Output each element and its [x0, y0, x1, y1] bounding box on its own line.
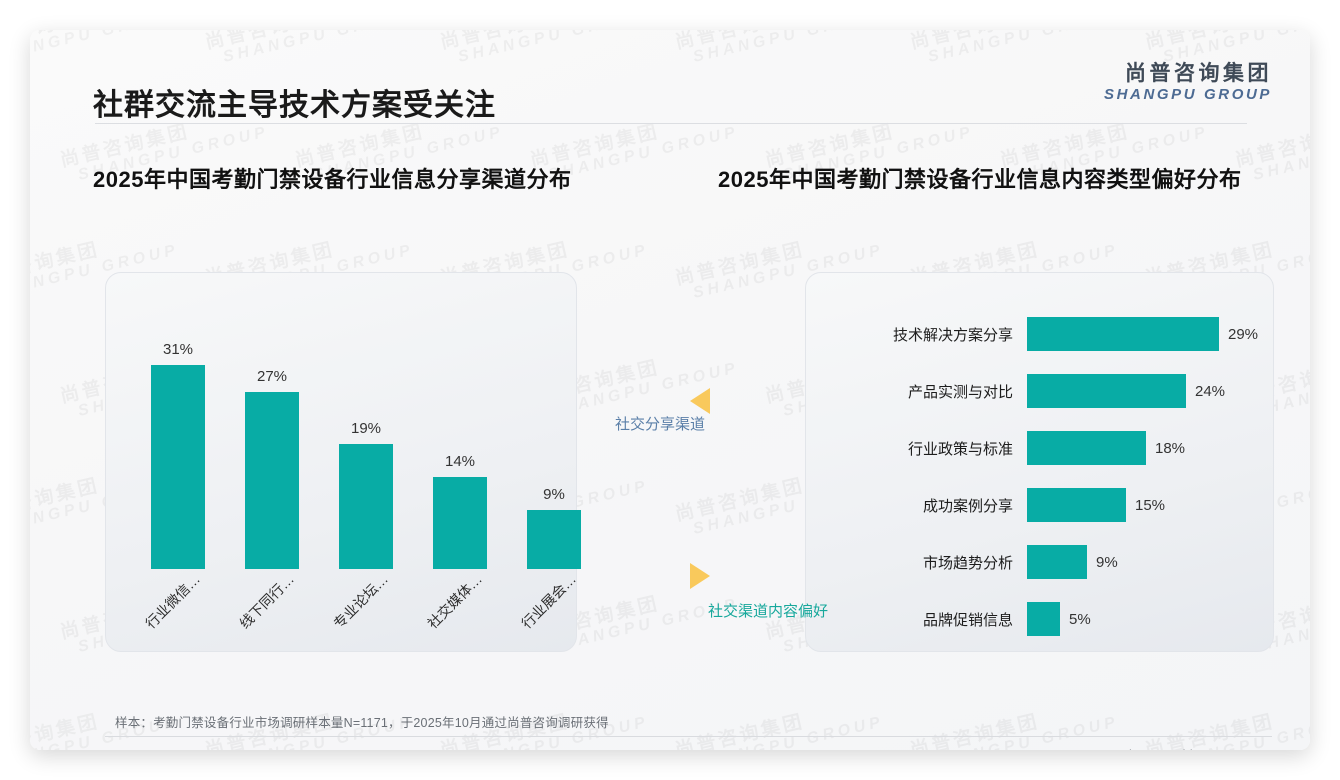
bar-row: 品牌促销信息5% [841, 602, 1091, 636]
bar-group: 27% [245, 368, 299, 569]
sample-footnote: 样本：考勤门禁设备行业市场调研样本量N=1171，于2025年10月通过尚普咨询… [115, 712, 609, 731]
bar-rect [433, 477, 487, 569]
watermark-text: 尚普咨询集团SHANGPU GROUP [674, 695, 886, 750]
bar-group: 31% [151, 341, 205, 569]
bar-rect [151, 365, 205, 569]
bar-category-label: 产品实测与对比 [841, 381, 1027, 402]
bar-group: 14% [433, 453, 487, 569]
bar-value-label: 24% [1195, 383, 1225, 400]
bar-rect [245, 392, 299, 569]
annotation-social-channel-label: 社交分享渠道 [615, 413, 705, 434]
bar-value-label: 9% [543, 486, 565, 503]
horizontal-bar-chart: 技术解决方案分享29%产品实测与对比24%行业政策与标准18%成功案例分享15%… [806, 273, 1273, 651]
bar-rect [339, 444, 393, 569]
chart-title-left: 2025年中国考勤门禁设备行业信息分享渠道分布 [93, 162, 571, 194]
bar-rect [527, 510, 581, 569]
bar-value-label: 31% [163, 341, 193, 358]
footer-divider [105, 736, 1272, 737]
bar-rect [1027, 431, 1146, 465]
triangle-right-icon [690, 563, 710, 589]
annotation-social-channel [690, 388, 710, 414]
bar-value-label: 14% [445, 453, 475, 470]
bar-row: 行业政策与标准18% [841, 431, 1185, 465]
bar-row: 技术解决方案分享29% [841, 317, 1258, 351]
chart-title-right: 2025年中国考勤门禁设备行业信息内容类型偏好分布 [718, 162, 1241, 194]
bar-rect [1027, 374, 1186, 408]
bar-category-label: 行业微信… [141, 569, 205, 633]
bar-group: 9% [527, 486, 581, 569]
bar-value-label: 15% [1135, 497, 1165, 514]
bar-value-label: 29% [1228, 326, 1258, 343]
slide: 尚普咨询集团SHANGPU GROUP尚普咨询集团SHANGPU GROUP尚普… [30, 30, 1310, 750]
bar-category-label: 专业论坛… [329, 569, 393, 633]
bar-group: 19% [339, 420, 393, 569]
bar-value-label: 19% [351, 420, 381, 437]
bar-category-label: 成功案例分享 [841, 495, 1027, 516]
page-title: 社群交流主导技术方案受关注 [93, 80, 496, 124]
bar-rect [1027, 317, 1219, 351]
chart-card-left: 31%行业微信…27%线下同行…19%专业论坛…14%社交媒体…9%行业展会… [105, 272, 577, 652]
watermark-text: 尚普咨询集团SHANGPU GROUP [1144, 695, 1310, 750]
brand-logo: 尚普咨询集团 SHANGPU GROUP [1104, 62, 1272, 104]
bar-row: 产品实测与对比24% [841, 374, 1225, 408]
vertical-bar-chart: 31%行业微信…27%线下同行…19%专业论坛…14%社交媒体…9%行业展会… [106, 273, 576, 651]
logo-english-text: SHANGPU GROUP [1104, 86, 1272, 104]
annotation-content-pref [690, 563, 710, 589]
chart-card-right: 技术解决方案分享29%产品实测与对比24%行业政策与标准18%成功案例分享15%… [805, 272, 1274, 652]
bar-category-label: 行业展会… [517, 569, 581, 633]
bar-rect [1027, 602, 1060, 636]
footer-copyright: ©2025.12 SHANGPU GROUP [105, 748, 283, 750]
bar-row: 市场趋势分析9% [841, 545, 1118, 579]
bar-value-label: 27% [257, 368, 287, 385]
bar-value-label: 18% [1155, 440, 1185, 457]
header-divider [95, 123, 1247, 124]
bar-category-label: 技术解决方案分享 [841, 324, 1027, 345]
annotation-top-text: 社交分享渠道 [615, 413, 705, 434]
bar-rect [1027, 488, 1126, 522]
bar-category-label: 品牌促销信息 [841, 609, 1027, 630]
bar-category-label: 线下同行… [235, 569, 299, 633]
annotation-bottom-text: 社交渠道内容偏好 [708, 600, 828, 621]
watermark-text: 尚普咨询集团SHANGPU GROUP [909, 695, 1121, 750]
slide-header: 社群交流主导技术方案受关注 尚普咨询集团 SHANGPU GROUP [30, 30, 1310, 122]
footer-website: www.shangpu-china.com [1092, 748, 1235, 750]
annotation-content-pref-label: 社交渠道内容偏好 [708, 600, 828, 621]
bar-row: 成功案例分享15% [841, 488, 1165, 522]
bar-value-label: 9% [1096, 554, 1118, 571]
bar-category-label: 行业政策与标准 [841, 438, 1027, 459]
bar-category-label: 市场趋势分析 [841, 552, 1027, 573]
bar-category-label: 社交媒体… [423, 569, 487, 633]
bar-rect [1027, 545, 1087, 579]
bar-value-label: 5% [1069, 611, 1091, 628]
triangle-left-icon [690, 388, 710, 414]
logo-chinese-text: 尚普咨询集团 [1104, 62, 1272, 86]
